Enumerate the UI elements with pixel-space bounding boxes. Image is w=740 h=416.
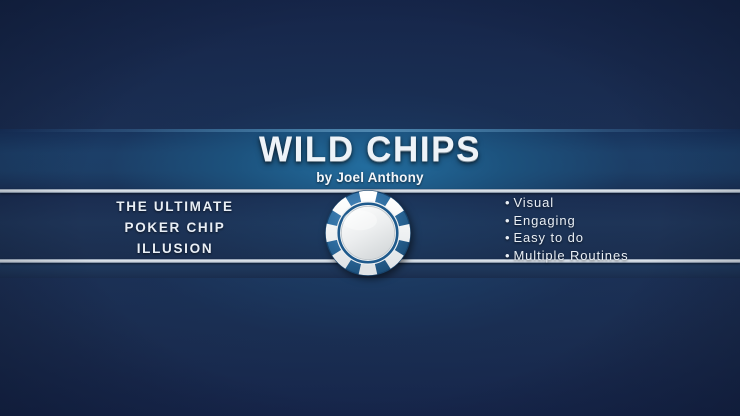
feature-label: Multiple Routines — [513, 248, 628, 263]
feature-label: Easy to do — [513, 230, 583, 245]
product-title: WILD CHIPS — [0, 129, 740, 167]
tagline-line-3: ILLUSION — [60, 238, 290, 259]
poker-chip-icon — [323, 188, 413, 278]
bullet-icon: • — [505, 248, 510, 263]
bullet-icon: • — [505, 230, 510, 245]
title-block: WILD CHIPS by Joel Anthony — [0, 129, 740, 189]
tagline-line-1: THE ULTIMATE — [60, 196, 290, 217]
feature-label: Visual — [513, 195, 554, 210]
feature-list: •Visual •Engaging •Easy to do •Multiple … — [505, 194, 725, 264]
list-item: •Easy to do — [505, 229, 725, 247]
list-item: •Multiple Routines — [505, 247, 725, 265]
bullet-icon: • — [505, 213, 510, 228]
product-byline: by Joel Anthony — [0, 170, 740, 185]
list-item: •Engaging — [505, 212, 725, 230]
bullet-icon: • — [505, 195, 510, 210]
feature-label: Engaging — [513, 213, 575, 228]
tagline-block: THE ULTIMATE POKER CHIP ILLUSION — [60, 196, 290, 259]
tagline-line-2: POKER CHIP — [60, 217, 290, 238]
banner-artwork: WILD CHIPS by Joel Anthony THE ULTIMATE … — [0, 0, 740, 416]
list-item: •Visual — [505, 194, 725, 212]
